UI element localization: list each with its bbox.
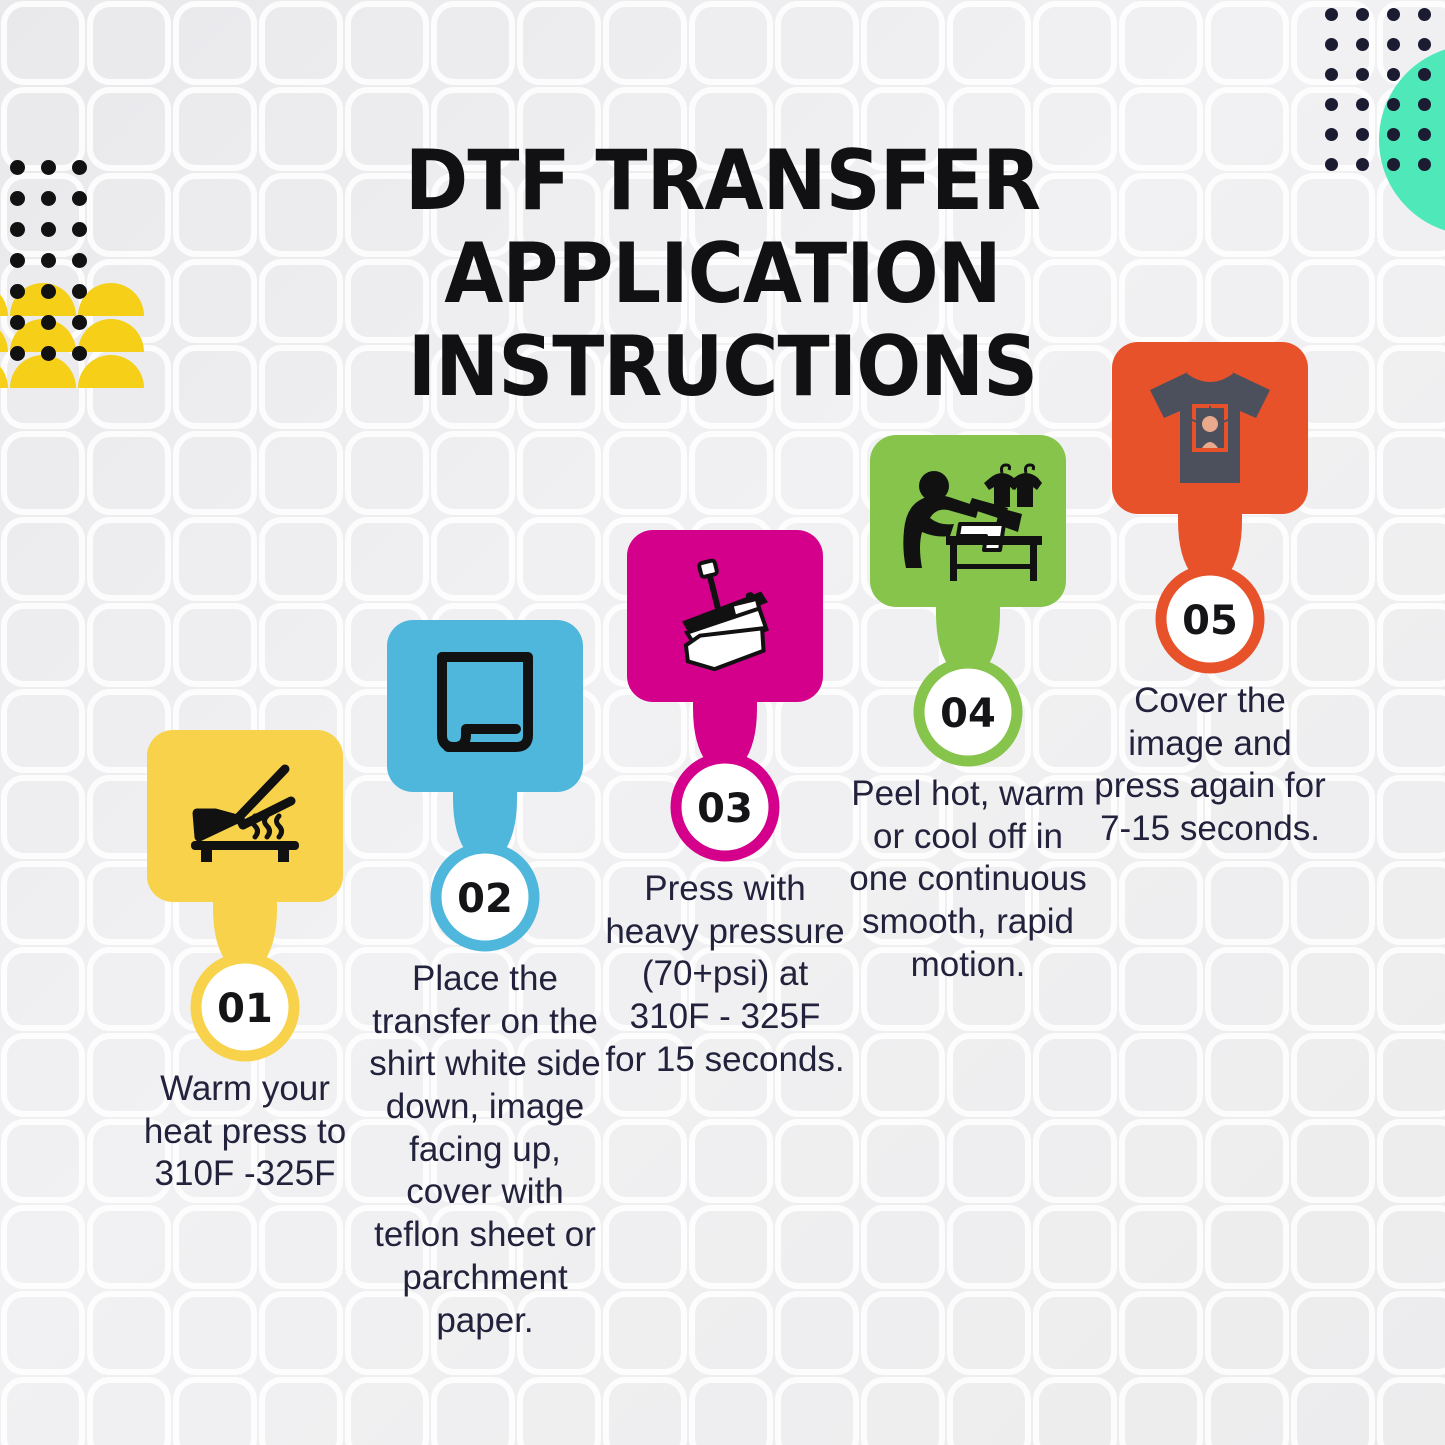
step-04-connector: 04 (848, 599, 1088, 769)
step-01-caption: Warm your heat press to 310F -325F (125, 1068, 365, 1196)
step-04-number: 04 (848, 691, 1088, 737)
step-02[interactable]: 02 Place the transfer on the shirt white… (365, 620, 605, 1342)
person-peeling-transfer-icon (894, 460, 1042, 582)
step-04-caption: Peel hot, warm or cool off in one contin… (848, 773, 1088, 986)
step-05-connector: 05 (1090, 506, 1330, 676)
step-02-icon-card[interactable] (387, 620, 583, 792)
poster-canvas: DTF TRANSFER APPLICATION INSTRUCTIONS (0, 0, 1445, 1445)
step-05[interactable]: 05 Cover the image and press again for 7… (1090, 342, 1330, 851)
step-01-connector: 01 (125, 894, 365, 1064)
step-05-number: 05 (1090, 598, 1330, 644)
step-03-icon-card[interactable] (627, 530, 823, 702)
step-05-icon-card[interactable] (1112, 342, 1308, 514)
step-02-number: 02 (365, 876, 605, 922)
step-02-connector: 02 (365, 784, 605, 954)
heat-press-machine-icon (662, 555, 788, 677)
transfer-sheet-icon (426, 647, 544, 765)
step-01-number: 01 (125, 986, 365, 1032)
step-01[interactable]: 01 Warm your heat press to 310F -325F (125, 730, 365, 1196)
step-01-icon-card[interactable] (147, 730, 343, 902)
printed-tshirt-icon (1140, 366, 1280, 490)
step-03-connector: 03 (605, 694, 845, 864)
step-03-caption: Press with heavy pressure (70+psi) at 31… (605, 868, 845, 1081)
step-02-caption: Place the transfer on the shirt white si… (365, 958, 605, 1342)
step-04[interactable]: 04 Peel hot, warm or cool off in one con… (848, 435, 1088, 986)
step-03[interactable]: 03 Press with heavy pressure (70+psi) at… (605, 530, 845, 1081)
step-05-caption: Cover the image and press again for 7-15… (1090, 680, 1330, 851)
step-03-number: 03 (605, 786, 845, 832)
heat-press-open-icon (181, 761, 309, 871)
step-04-icon-card[interactable] (870, 435, 1066, 607)
steps-container: 01 Warm your heat press to 310F -325F 02… (0, 0, 1445, 1445)
